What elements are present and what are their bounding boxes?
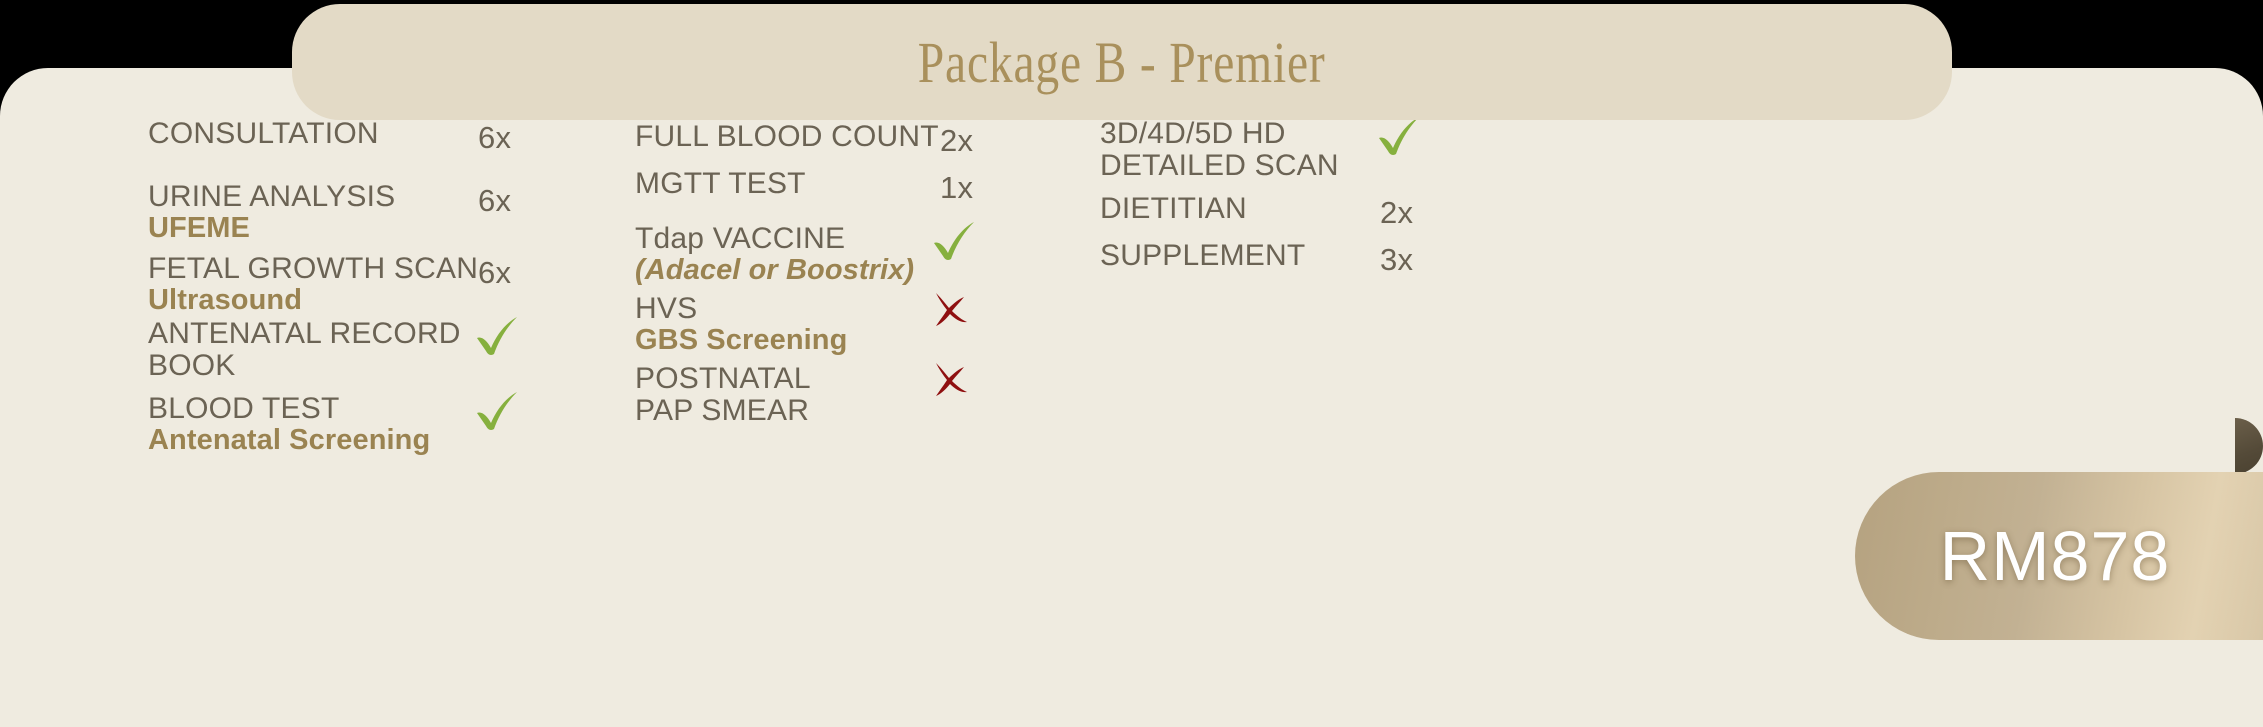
item-quantity: 1x bbox=[940, 170, 973, 206]
item-label: URINE ANALYSIS bbox=[148, 181, 395, 213]
item-label: DIETITIAN bbox=[1100, 193, 1247, 225]
item-quantity: 6x bbox=[478, 255, 511, 291]
check-icon bbox=[930, 219, 978, 263]
package-item-row: URINE ANALYSISUFEME bbox=[148, 181, 395, 245]
item-sublabel: UFEME bbox=[148, 213, 395, 245]
item-label: 3D/4D/5D HD DETAILED SCAN bbox=[1100, 118, 1339, 183]
item-sublabel: GBS Screening bbox=[635, 325, 847, 357]
item-label: FULL BLOOD COUNT bbox=[635, 121, 939, 153]
item-sublabel: (Adacel or Boostrix) bbox=[635, 255, 914, 287]
package-item-row: FULL BLOOD COUNT bbox=[635, 121, 939, 153]
package-item-row: DIETITIAN bbox=[1100, 193, 1247, 225]
package-item-row: HVSGBS Screening bbox=[635, 293, 847, 357]
item-quantity: 3x bbox=[1380, 242, 1413, 278]
package-item-row: BLOOD TESTAntenatal Screening bbox=[148, 393, 430, 457]
item-label: MGTT TEST bbox=[635, 168, 806, 200]
item-label: SUPPLEMENT bbox=[1100, 240, 1305, 272]
cross-icon bbox=[930, 359, 970, 399]
package-item-row: CONSULTATION bbox=[148, 118, 379, 150]
item-quantity: 6x bbox=[478, 120, 511, 156]
item-quantity: 2x bbox=[940, 123, 973, 159]
package-title-banner: Package B - Premier bbox=[292, 4, 1952, 120]
item-sublabel: Antenatal Screening bbox=[148, 425, 430, 457]
price-value: RM878 bbox=[1940, 516, 2211, 596]
cross-icon bbox=[930, 289, 970, 329]
package-item-row: SUPPLEMENT bbox=[1100, 240, 1305, 272]
price-badge: RM878 bbox=[1855, 472, 2263, 640]
item-quantity: 2x bbox=[1380, 195, 1413, 231]
item-label: CONSULTATION bbox=[148, 118, 379, 150]
package-item-row: FETAL GROWTH SCANUltrasound bbox=[148, 253, 478, 317]
item-quantity: 6x bbox=[478, 183, 511, 219]
package-item-row: ANTENATAL RECORD BOOK bbox=[148, 318, 461, 383]
check-icon bbox=[473, 389, 521, 433]
package-item-row: MGTT TEST bbox=[635, 168, 806, 200]
page-title: Package B - Premier bbox=[918, 29, 1326, 96]
item-label: FETAL GROWTH SCAN bbox=[148, 253, 478, 285]
item-label: POSTNATAL PAP SMEAR bbox=[635, 363, 811, 428]
package-item-row: Tdap VACCINE(Adacel or Boostrix) bbox=[635, 223, 914, 287]
package-item-row: 3D/4D/5D HD DETAILED SCAN bbox=[1100, 118, 1339, 183]
item-label: BLOOD TEST bbox=[148, 393, 430, 425]
check-icon bbox=[1375, 114, 1423, 158]
item-label: ANTENATAL RECORD BOOK bbox=[148, 318, 461, 383]
item-label: HVS bbox=[635, 293, 847, 325]
item-sublabel: Ultrasound bbox=[148, 285, 478, 317]
check-icon bbox=[473, 314, 521, 358]
item-label: Tdap VACCINE bbox=[635, 223, 914, 255]
package-item-row: POSTNATAL PAP SMEAR bbox=[635, 363, 811, 428]
